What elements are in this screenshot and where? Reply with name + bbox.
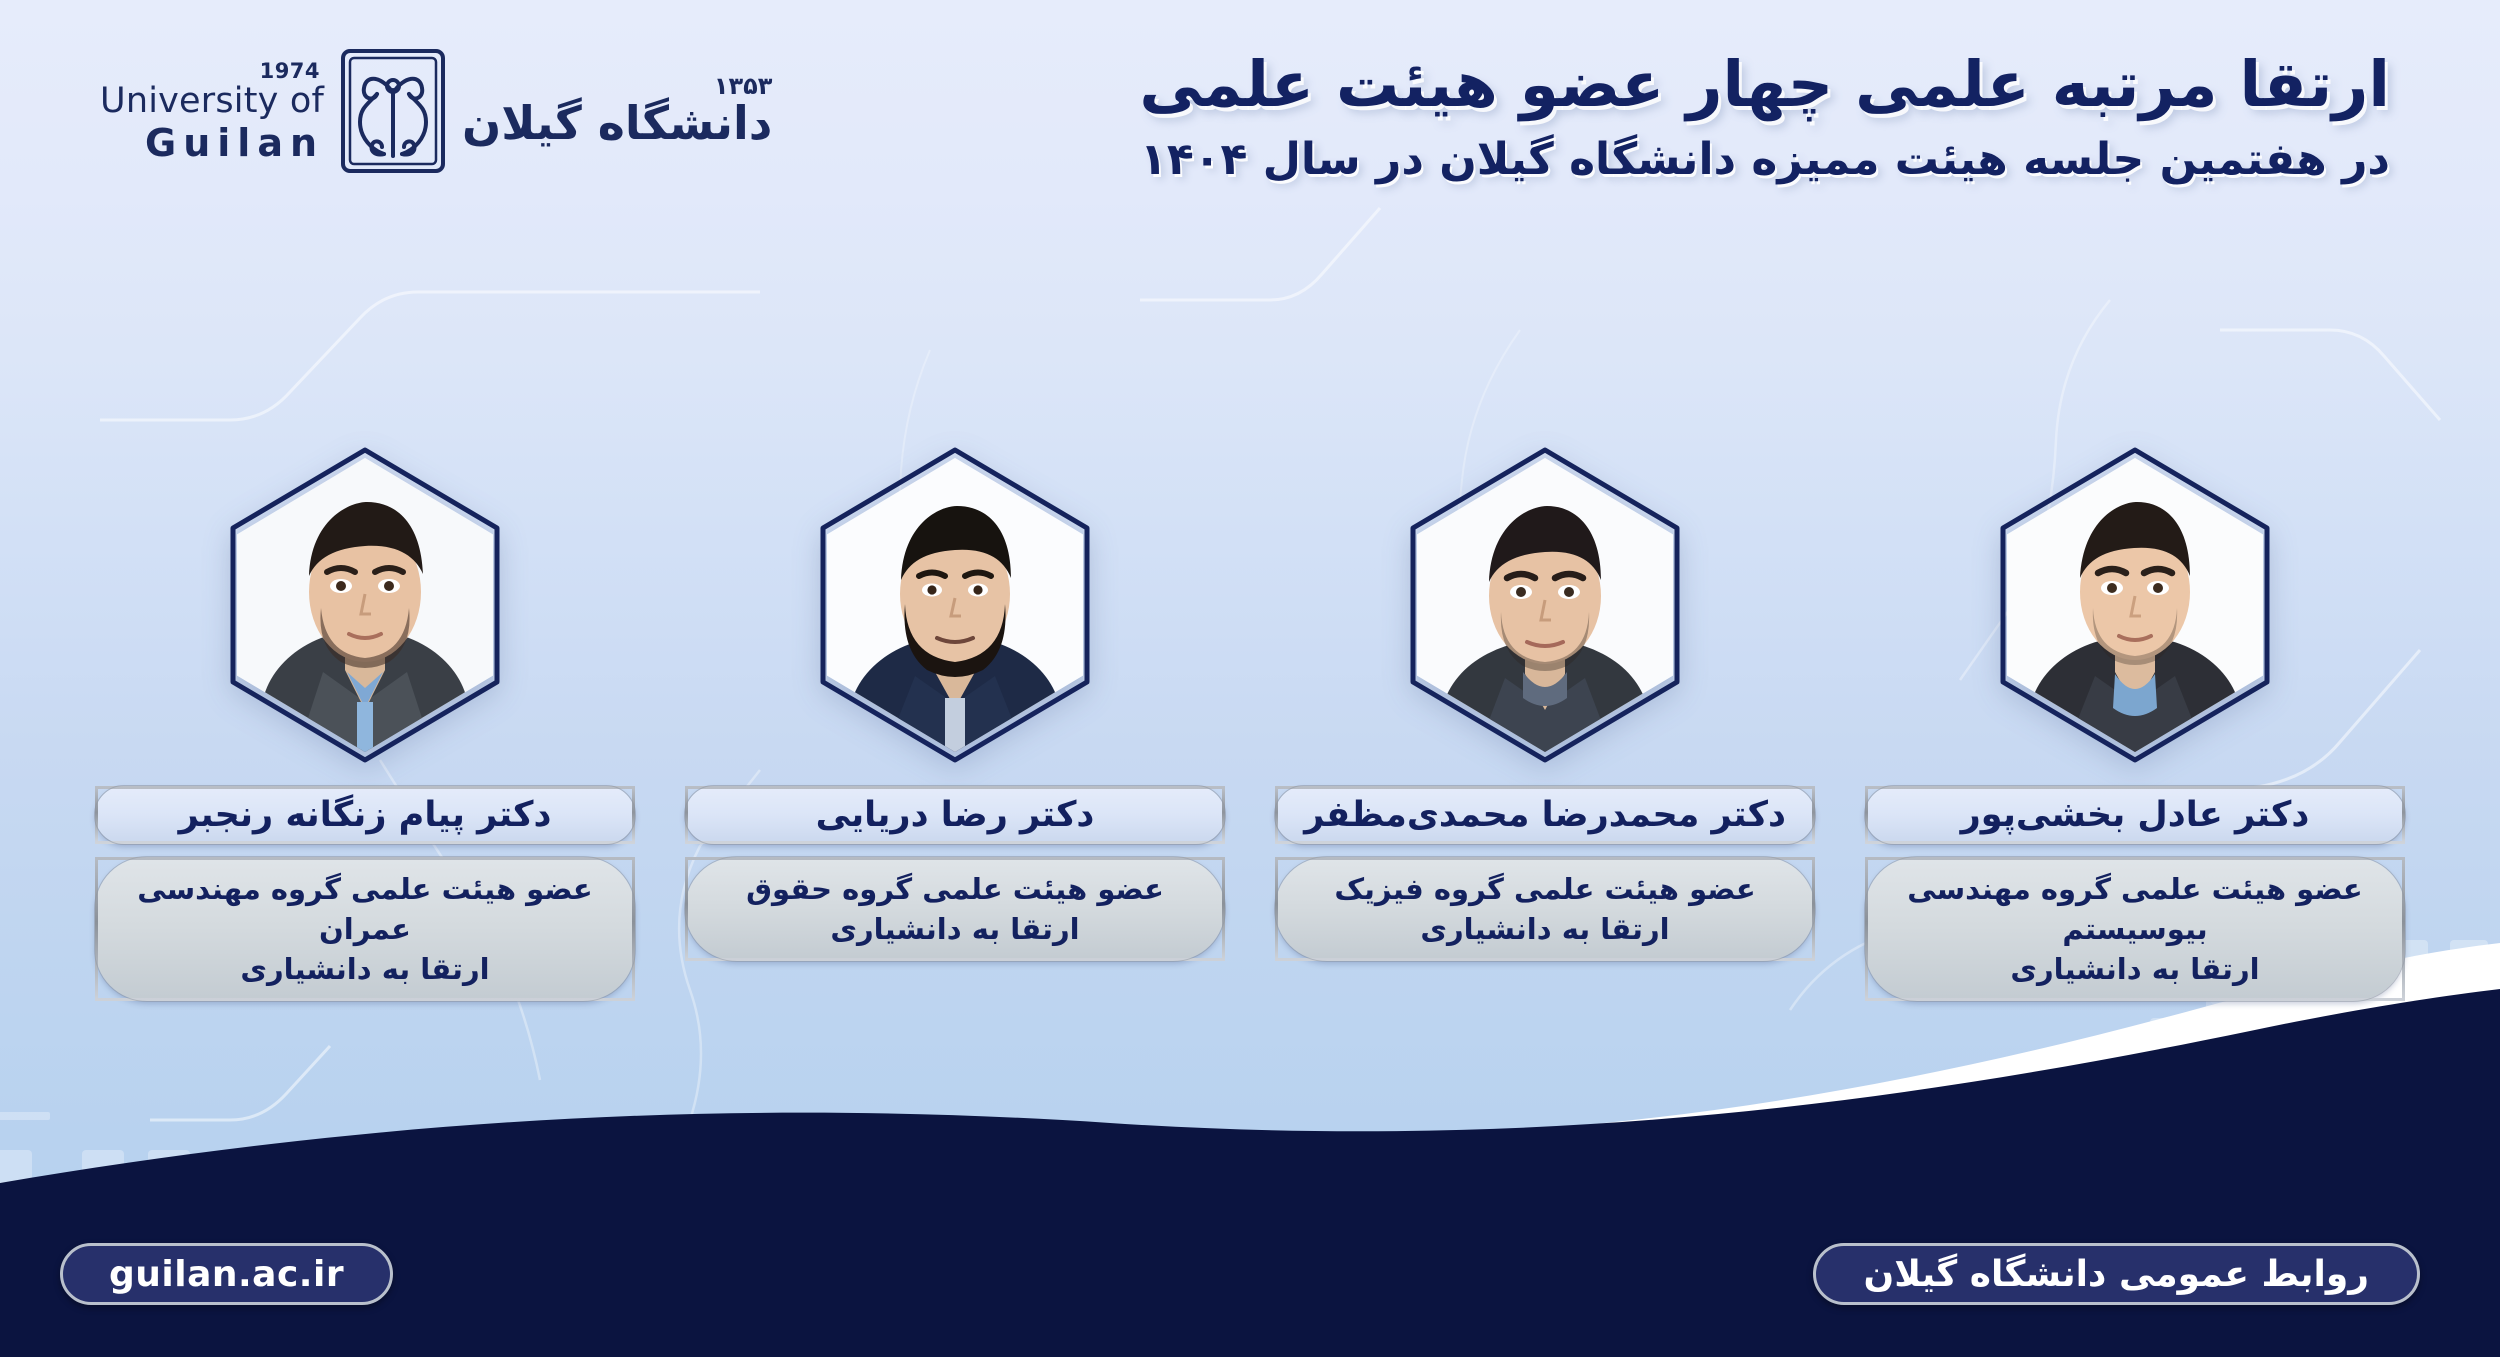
poster-canvas: 1974 University of Guilan <box>0 0 2500 1357</box>
logo-university-word: University of <box>100 84 324 119</box>
page-title: ارتقا مرتبه علمی چهار عضو هیئت علمی <box>1139 48 2390 122</box>
logo-guilan-word: Guilan <box>145 124 324 162</box>
portrait-frame <box>805 440 1105 770</box>
faculty-role: عضو هیئت علمی گروه فیزیک ارتقا به دانشیا… <box>1275 857 1815 961</box>
faculty-department: عضو هیئت علمی گروه حقوق <box>746 869 1164 909</box>
faculty-promotion: ارتقا به دانشیاری <box>830 909 1079 949</box>
faculty-card: دکتر پیام زنگانه رنجبر عضو هیئت علمی گرو… <box>95 440 635 1001</box>
logo-english-text: 1974 University of Guilan <box>100 61 324 162</box>
portrait-frame <box>1985 440 2285 770</box>
faculty-promotion: ارتقا به دانشیاری <box>1420 909 1669 949</box>
faculty-role: عضو هیئت علمی گروه مهندسی بیوسیستم ارتقا… <box>1865 857 2405 1001</box>
university-logo: 1974 University of Guilan <box>100 46 772 176</box>
footer: guilan.ac.ir روابط عمومی دانشگاه گیلان <box>0 1177 2500 1357</box>
faculty-card: دکتر رضا دریایی عضو هیئت علمی گروه حقوق … <box>685 440 1225 1001</box>
portrait-frame <box>215 440 515 770</box>
public-relations-chip: روابط عمومی دانشگاه گیلان <box>1813 1243 2420 1305</box>
faculty-list: دکتر پیام زنگانه رنجبر عضو هیئت علمی گرو… <box>0 440 2500 1001</box>
faculty-role: عضو هیئت علمی گروه حقوق ارتقا به دانشیار… <box>685 857 1225 961</box>
faculty-name: دکتر پیام زنگانه رنجبر <box>95 786 635 844</box>
header: 1974 University of Guilan <box>0 0 2500 290</box>
faculty-name: دکتر عادل بخشی‌پور <box>1865 786 2405 844</box>
logo-guilan-word-fa: دانشگاه گیلان <box>462 96 772 150</box>
page-subtitle: در هفتمین جلسه هیئت ممیزه دانشگاه گیلان … <box>1139 132 2390 187</box>
faculty-promotion: ارتقا به دانشیاری <box>2010 949 2259 989</box>
guilan-emblem-icon <box>338 46 448 176</box>
faculty-promotion: ارتقا به دانشیاری <box>240 949 489 989</box>
portrait-frame <box>1395 440 1695 770</box>
faculty-card: دکتر محمدرضا محمدی‌مظفر عضو هیئت علمی گر… <box>1275 440 1815 1001</box>
faculty-department: عضو هیئت علمی گروه مهندسی بیوسیستم <box>1894 869 2376 949</box>
logo-year-en: 1974 <box>260 61 320 82</box>
faculty-name: دکتر محمدرضا محمدی‌مظفر <box>1275 786 1815 844</box>
faculty-name: دکتر رضا دریایی <box>685 786 1225 844</box>
website-chip[interactable]: guilan.ac.ir <box>60 1243 393 1305</box>
faculty-department: عضو هیئت علمی گروه مهندسی عمران <box>124 869 606 949</box>
faculty-role: عضو هیئت علمی گروه مهندسی عمران ارتقا به… <box>95 857 635 1001</box>
faculty-card: دکتر عادل بخشی‌پور عضو هیئت علمی گروه مه… <box>1865 440 2405 1001</box>
title-block: ارتقا مرتبه علمی چهار عضو هیئت علمی در ه… <box>1139 48 2390 187</box>
faculty-department: عضو هیئت علمی گروه فیزیک <box>1334 869 1755 909</box>
logo-persian-text: ۱۳۵۳ دانشگاه گیلان <box>462 72 772 150</box>
